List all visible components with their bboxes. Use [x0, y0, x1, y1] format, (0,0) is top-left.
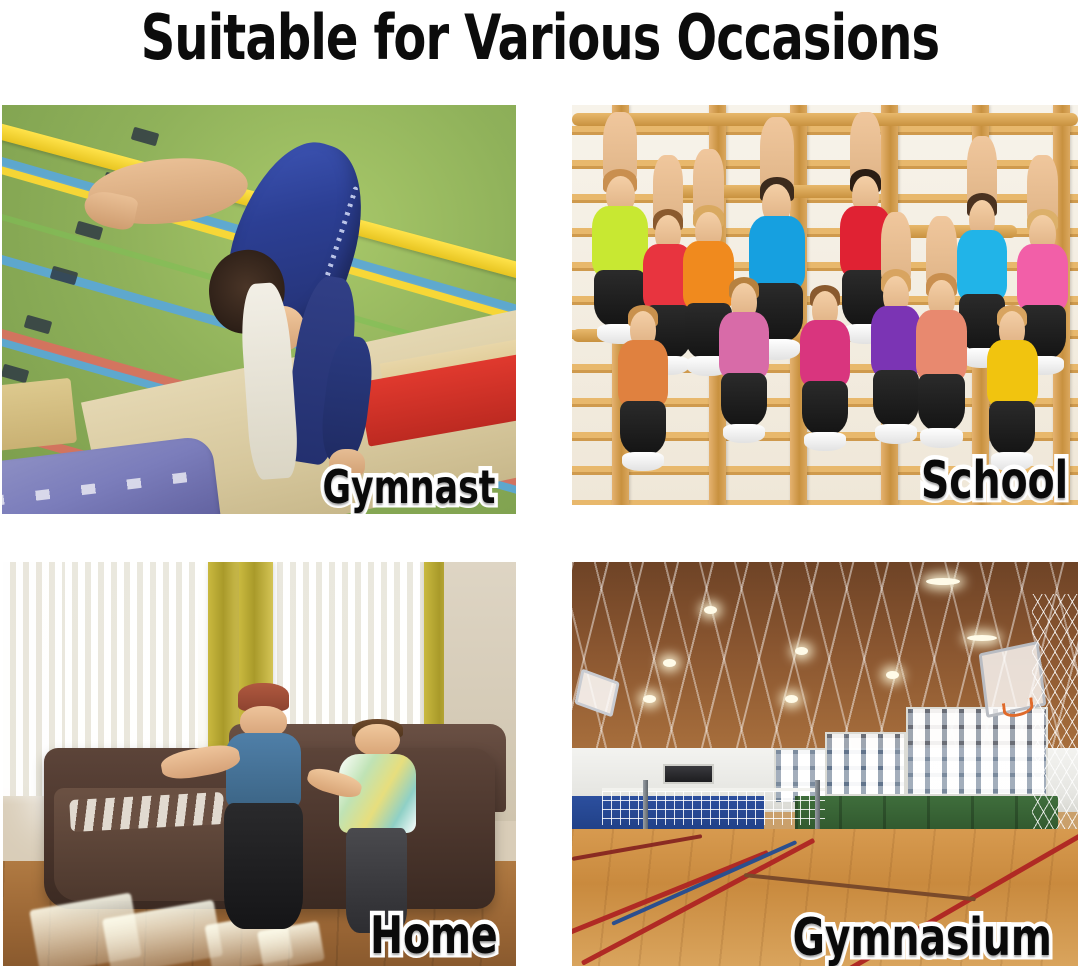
occasions-infographic: Suitable for Various Occasions: [0, 0, 1080, 975]
caption-gymnasium: Gymnasium: [792, 910, 1051, 966]
child-legs: [802, 381, 849, 435]
child-figure: [800, 285, 851, 445]
caption-gymnast: Gymnast: [323, 462, 496, 512]
ceiling-light: [886, 671, 899, 679]
child-shirt: [719, 312, 770, 379]
adult-shirt: [226, 733, 300, 808]
gymnast-figure: [84, 125, 485, 501]
child-shirt: [618, 340, 669, 407]
child-shirt: [800, 320, 851, 387]
photo-gymnasium: [572, 562, 1078, 966]
child-shoes: [723, 424, 765, 443]
child-figure: [719, 277, 770, 437]
gym-window-bank-mid: [825, 732, 906, 797]
ceiling-light: [795, 647, 808, 655]
panel-gymnast: Gymnast: [2, 105, 516, 514]
gym-window-bank-right: [906, 707, 1048, 796]
child-figure: [871, 269, 922, 437]
gymnasium-hall: [572, 562, 1078, 966]
volleyball-net: [602, 788, 825, 824]
floor-dash: [49, 265, 78, 285]
child-shoes: [804, 432, 846, 451]
child-legs: [989, 401, 1036, 455]
child-shirt: [1017, 244, 1068, 311]
child-head: [355, 724, 399, 757]
adult-figure: [208, 683, 321, 933]
caption-home: Home: [370, 908, 498, 964]
floor-dash: [24, 314, 53, 334]
child-shirt: [987, 340, 1038, 407]
child-figure: [916, 273, 967, 441]
child-legs: [918, 374, 965, 431]
wall-bar-crossbar: [572, 113, 1078, 126]
floor-dash: [2, 363, 29, 383]
child-shoes: [920, 428, 962, 448]
ceiling-light-strip: [967, 635, 997, 641]
ceiling-light: [663, 659, 676, 667]
photo-gymnast: [2, 105, 516, 514]
child-shoes: [622, 452, 664, 471]
panel-gymnasium: Gymnasium: [572, 562, 1078, 966]
page-title: Suitable for Various Occasions: [76, 2, 1005, 74]
panel-school: School: [572, 105, 1078, 505]
tan-block-left: [2, 378, 77, 454]
child-shirt: [592, 206, 648, 277]
child-shirt: [916, 310, 967, 381]
wall-mounted-screen: [663, 764, 714, 784]
child-shirt: [871, 306, 922, 377]
photo-school: [572, 105, 1078, 505]
panel-home: Home: [3, 562, 516, 966]
child-figure: [987, 305, 1038, 465]
ceiling-light: [785, 695, 798, 703]
child-legs: [873, 370, 920, 427]
adult-legs: [224, 803, 303, 928]
child-legs: [721, 373, 768, 427]
caption-school: School: [921, 453, 1068, 505]
child-legs: [620, 401, 667, 455]
child-figure: [618, 305, 669, 465]
child-shoes: [875, 424, 917, 444]
